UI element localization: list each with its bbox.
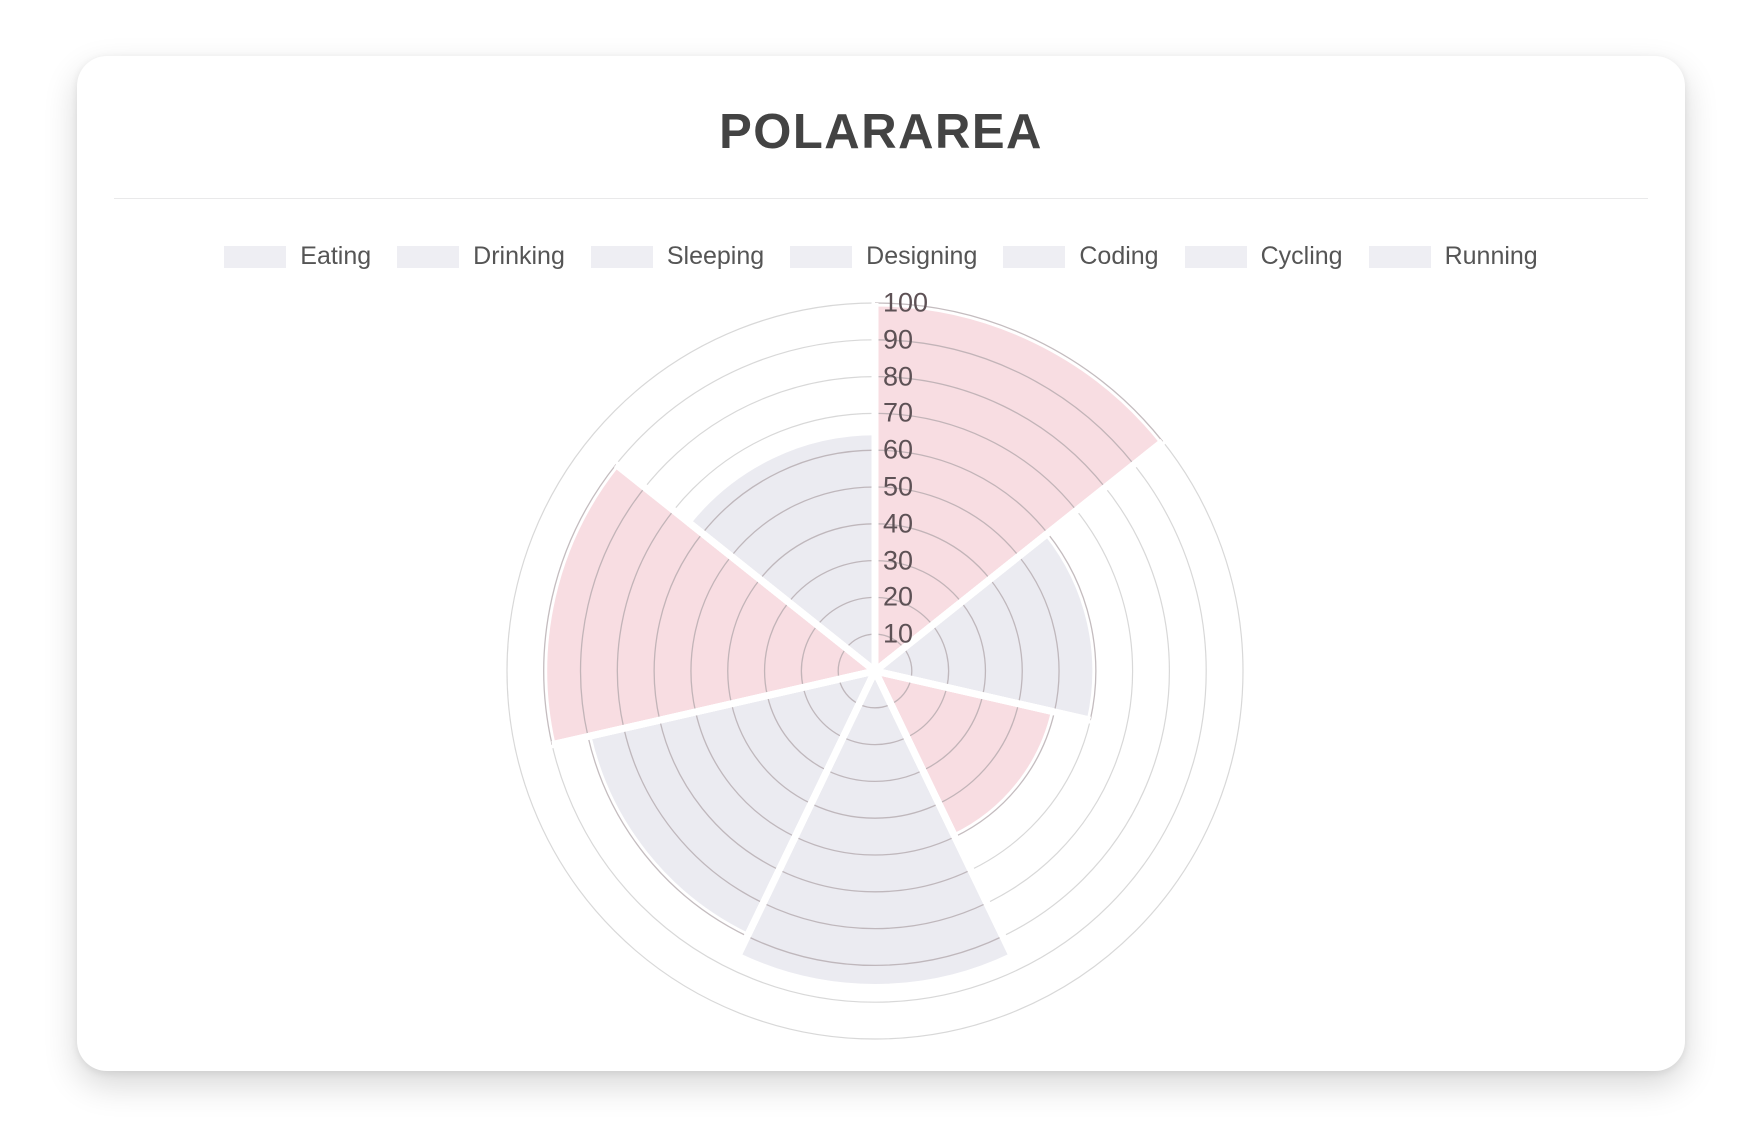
grid-arc — [961, 602, 985, 695]
radial-spoke — [747, 671, 875, 936]
polar-sectors-group — [544, 303, 1163, 987]
radial-spoke — [875, 671, 1054, 712]
chart-card: POLARAREA EatingDrinkingSleepingDesignin… — [77, 56, 1685, 1071]
legend-item-label: Coding — [1079, 242, 1158, 271]
grid-arc — [747, 936, 1002, 965]
grid-arc — [859, 704, 891, 708]
grid-arc — [765, 602, 789, 695]
radial-spoke — [616, 464, 875, 671]
grid-arc — [731, 704, 811, 804]
polar-sector[interactable] — [544, 464, 875, 744]
radial-tick-label: 10 — [883, 619, 913, 650]
grid-arc — [696, 712, 796, 837]
grid-arc — [1019, 556, 1059, 712]
legend-item-designing[interactable]: Designing — [790, 242, 977, 271]
grid-ring-outer — [544, 340, 1206, 1002]
grid-arc — [731, 487, 875, 556]
legend-item-label: Running — [1445, 242, 1538, 271]
grid-arc — [702, 450, 875, 533]
radial-tick-label: 80 — [883, 361, 913, 392]
page-root: POLARAREA EatingDrinkingSleepingDesignin… — [0, 0, 1763, 1146]
grid-arc — [1048, 533, 1096, 720]
grid-arc — [581, 487, 645, 736]
grid-ring-outer — [801, 597, 948, 744]
grid-arc — [801, 625, 817, 687]
grid-arc — [779, 870, 971, 892]
radial-spokes-group — [552, 303, 1163, 956]
legend-item-label: Drinking — [473, 242, 565, 271]
radial-tick-label: 40 — [883, 508, 913, 539]
grid-arc — [939, 704, 1019, 804]
grid-arc — [955, 712, 1055, 837]
grid-arc — [839, 679, 859, 704]
radial-spoke — [552, 671, 875, 745]
grid-arc — [691, 556, 731, 712]
grid-arc — [789, 561, 875, 603]
radial-tick-label: 100 — [883, 288, 928, 319]
legend-item-running[interactable]: Running — [1369, 242, 1538, 271]
chart-legend: EatingDrinkingSleepingDesigningCodingCyc… — [77, 242, 1685, 271]
legend-item-drinking[interactable]: Drinking — [397, 242, 565, 271]
polar-sector[interactable] — [688, 432, 875, 671]
grid-arc — [795, 837, 955, 855]
grid-arc — [763, 903, 987, 929]
legend-swatch-icon — [224, 246, 286, 268]
radial-spoke — [588, 671, 875, 737]
grid-arc — [767, 696, 827, 771]
grid-arc — [760, 524, 875, 579]
grid-arc — [990, 579, 1022, 704]
grid-arc — [846, 634, 875, 648]
radial-spoke — [875, 442, 1163, 671]
polar-sector[interactable] — [875, 671, 1054, 837]
radial-spoke — [875, 671, 955, 837]
legend-item-label: Sleeping — [667, 242, 764, 271]
grid-arc — [617, 510, 673, 728]
legend-swatch-icon — [790, 246, 852, 268]
polar-area-svg — [77, 56, 1685, 1071]
radial-spoke — [875, 671, 1090, 720]
radial-spoke — [688, 522, 875, 671]
radial-tick-label: 90 — [883, 324, 913, 355]
grid-arc — [904, 648, 912, 679]
radial-spoke — [875, 671, 1012, 956]
legend-swatch-icon — [1003, 246, 1065, 268]
page-title: POLARAREA — [77, 104, 1685, 160]
grid-ring-outer — [728, 524, 1022, 818]
legend-swatch-icon — [591, 246, 653, 268]
legend-item-sleeping[interactable]: Sleeping — [591, 242, 764, 271]
polar-sector[interactable] — [588, 671, 875, 936]
grid-arc — [933, 625, 949, 687]
grid-arc — [923, 696, 983, 771]
grid-rings-group — [544, 303, 1163, 965]
grid-ring-outer — [654, 450, 1096, 892]
radial-tick-label: 30 — [883, 545, 913, 576]
grid-arc — [588, 737, 747, 937]
grid-ring-outer — [691, 487, 1059, 855]
grid-arc — [838, 648, 846, 679]
radial-tick-label: 70 — [883, 398, 913, 429]
grid-arc — [875, 303, 1163, 442]
legend-item-label: Designing — [866, 242, 977, 271]
grid-arc — [843, 737, 907, 744]
grid-arc — [544, 464, 616, 744]
polar-sector[interactable] — [738, 671, 1013, 987]
title-separator — [114, 198, 1648, 199]
grid-ring-outer — [581, 377, 1170, 966]
legend-item-label: Eating — [300, 242, 371, 271]
radial-spoke — [738, 671, 875, 956]
grid-arc — [811, 804, 939, 819]
legend-item-cycling[interactable]: Cycling — [1185, 242, 1343, 271]
grid-arc — [817, 597, 875, 625]
radial-tick-label: 50 — [883, 472, 913, 503]
grid-arc — [827, 770, 923, 781]
grid-ring-outer — [617, 413, 1132, 928]
legend-item-label: Cycling — [1261, 242, 1343, 271]
grid-arc — [907, 687, 947, 737]
grid-arc — [803, 687, 843, 737]
legend-item-coding[interactable]: Coding — [1003, 242, 1158, 271]
grid-arc — [654, 533, 702, 720]
legend-swatch-icon — [1185, 246, 1247, 268]
grid-arc — [624, 728, 763, 903]
radial-tick-label: 60 — [883, 435, 913, 466]
legend-item-eating[interactable]: Eating — [224, 242, 371, 271]
grid-arc — [875, 340, 1134, 465]
polar-area-plot — [77, 56, 1685, 1071]
grid-arc — [891, 679, 911, 704]
grid-ring-outer — [765, 561, 986, 782]
grid-arc — [660, 720, 779, 870]
polar-sector[interactable] — [875, 303, 1163, 671]
legend-swatch-icon — [397, 246, 459, 268]
radial-tick-label: 20 — [883, 582, 913, 613]
legend-swatch-icon — [1369, 246, 1431, 268]
grid-arc — [728, 579, 760, 704]
grid-ring-outer — [507, 303, 1243, 1039]
